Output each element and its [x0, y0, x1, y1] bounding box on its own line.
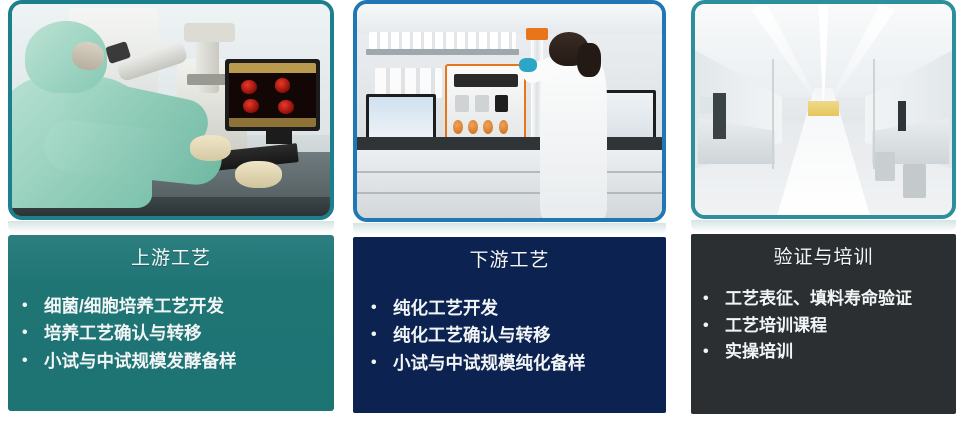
list-item: • 纯化工艺确认与转移 — [353, 323, 666, 350]
microscope-monitor — [225, 59, 320, 131]
photo-frame-downstream — [353, 0, 666, 222]
list-item: • 细菌/细胞培养工艺开发 — [8, 294, 334, 321]
panel-validation-training: 验证与培训 • 工艺表征、填料寿命验证 • 工艺培训课程 • 实操培训 — [691, 234, 956, 414]
bullet-text: 工艺表征、填料寿命验证 — [725, 287, 950, 312]
bullet-text: 培养工艺确认与转移 — [44, 321, 328, 346]
panel-title-validation: 验证与培训 — [691, 234, 956, 267]
bullet-icon: • — [22, 321, 44, 344]
photo-frame-upstream — [8, 0, 334, 220]
slide-canvas: 上游工艺 • 细菌/细胞培养工艺开发 • 培养工艺确认与转移 • 小试与中试规模… — [0, 0, 960, 424]
bullet-list-downstream: • 纯化工艺开发 • 纯化工艺确认与转移 • 小试与中试规模纯化备样 — [353, 270, 666, 378]
photo-reflection-validation — [691, 220, 956, 232]
chromatography-system — [445, 64, 525, 145]
bullet-text: 纯化工艺确认与转移 — [393, 323, 660, 348]
bullet-icon: • — [371, 351, 393, 374]
column-upstream: 上游工艺 • 细菌/细胞培养工艺开发 • 培养工艺确认与转移 • 小试与中试规模… — [8, 0, 334, 411]
bullet-text: 实操培训 — [725, 340, 950, 365]
photo-reflection-upstream — [8, 221, 334, 233]
photo-reflection-downstream — [353, 223, 666, 235]
cleanroom-corridor-photo — [695, 4, 952, 215]
list-item: • 实操培训 — [691, 340, 956, 367]
bullet-text: 工艺培训课程 — [725, 314, 950, 339]
photo-frame-validation — [691, 0, 956, 219]
bullet-icon: • — [371, 323, 393, 346]
list-item: • 小试与中试规模纯化备样 — [353, 351, 666, 378]
bullet-list-validation: • 工艺表征、填料寿命验证 • 工艺培训课程 • 实操培训 — [691, 267, 956, 367]
column-validation-training: 验证与培训 • 工艺表征、填料寿命验证 • 工艺培训课程 • 实操培训 — [691, 0, 956, 414]
column-downstream: 下游工艺 • 纯化工艺开发 • 纯化工艺确认与转移 • 小试与中试规模纯化备样 — [353, 0, 666, 413]
panel-title-downstream: 下游工艺 — [353, 237, 666, 270]
list-item: • 纯化工艺开发 — [353, 296, 666, 323]
list-item: • 小试与中试规模发酵备样 — [8, 349, 334, 376]
bullet-text: 细菌/细胞培养工艺开发 — [44, 294, 328, 319]
bullet-icon: • — [703, 314, 725, 337]
bullet-text: 小试与中试规模发酵备样 — [44, 349, 328, 374]
microscope-cleanroom-operator-photo — [12, 4, 330, 216]
panel-upstream: 上游工艺 • 细菌/细胞培养工艺开发 • 培养工艺确认与转移 • 小试与中试规模… — [8, 235, 334, 411]
list-item: • 工艺培训课程 — [691, 314, 956, 341]
bullet-icon: • — [22, 349, 44, 372]
bullet-icon: • — [703, 287, 725, 310]
panel-title-upstream: 上游工艺 — [8, 235, 334, 268]
bullet-icon: • — [22, 294, 44, 317]
bullet-text: 小试与中试规模纯化备样 — [393, 351, 660, 376]
panel-downstream: 下游工艺 • 纯化工艺开发 • 纯化工艺确认与转移 • 小试与中试规模纯化备样 — [353, 237, 666, 413]
list-item: • 培养工艺确认与转移 — [8, 321, 334, 348]
chromatography-lab-scientist-photo — [357, 4, 662, 218]
bullet-text: 纯化工艺开发 — [393, 296, 660, 321]
bullet-list-upstream: • 细菌/细胞培养工艺开发 • 培养工艺确认与转移 • 小试与中试规模发酵备样 — [8, 268, 334, 376]
list-item: • 工艺表征、填料寿命验证 — [691, 287, 956, 314]
bullet-icon: • — [371, 296, 393, 319]
bullet-icon: • — [703, 340, 725, 363]
